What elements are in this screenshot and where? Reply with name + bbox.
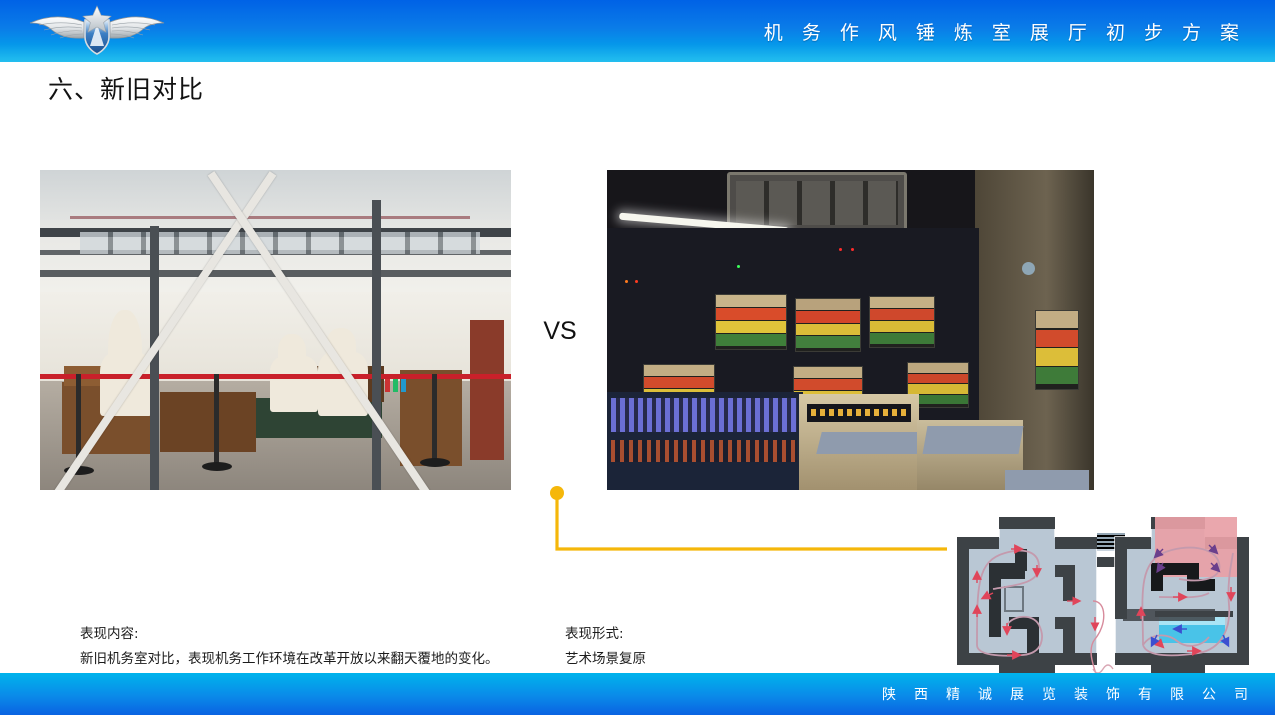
footer-char-0: 陕	[873, 684, 905, 704]
header-title-char-12: 案	[1211, 18, 1249, 45]
page-title: 六、新旧对比	[48, 70, 204, 106]
footer-char-8: 有	[1129, 684, 1161, 704]
photo-right-desk-surface	[923, 426, 1024, 454]
photo-left-figure-body	[270, 356, 318, 412]
photo-left-banner	[470, 320, 504, 460]
caption-left-body: 新旧机务室对比，表现机务工作环境在改革开放以来翻天覆地的变化。	[80, 647, 499, 672]
header-title-char-5: 炼	[945, 18, 983, 45]
photo-right-led	[635, 280, 638, 283]
caption-right: 表现形式: 艺术场景复原	[565, 622, 646, 672]
header-title-char-2: 作	[831, 18, 869, 45]
exhibition-floorplan	[947, 505, 1259, 695]
photo-left-wardrobe	[400, 370, 462, 466]
caption-right-body: 艺术场景复原	[565, 647, 646, 672]
caption-left: 表现内容: 新旧机务室对比，表现机务工作环境在改革开放以来翻天覆地的变化。	[80, 622, 499, 672]
header-title-char-11: 方	[1173, 18, 1211, 45]
footer-char-5: 览	[1033, 684, 1065, 704]
footer-char-1: 西	[905, 684, 937, 704]
footer-char-10: 公	[1193, 684, 1225, 704]
photo-right-desk-panel	[807, 404, 911, 422]
photo-left-desk	[160, 392, 256, 452]
slide-header: 机 务 作 风 锤 炼 室 展 厅 初 步 方 案	[0, 0, 1275, 62]
footer-char-4: 展	[1001, 684, 1033, 704]
header-title-char-0: 机	[755, 18, 793, 45]
photo-right-led	[839, 248, 842, 251]
caption-left-heading: 表现内容:	[80, 622, 499, 647]
photo-right-led	[625, 280, 628, 283]
old-maintenance-room-photo	[40, 170, 511, 490]
new-control-room-photo	[607, 170, 1094, 490]
footer-char-6: 装	[1065, 684, 1097, 704]
photo-right-ceiling-sensor	[1022, 262, 1035, 275]
photo-right-led	[737, 265, 740, 268]
vs-comparison-label: VS	[540, 317, 580, 346]
photo-left-red-stripe	[70, 216, 470, 219]
header-title: 机 务 作 风 锤 炼 室 展 厅 初 步 方 案	[755, 0, 1249, 62]
photo-left-stanchion	[432, 374, 437, 462]
photo-right-side-monitor	[1035, 310, 1079, 390]
photo-right-monitor	[869, 296, 935, 348]
slide-root: 机 务 作 风 锤 炼 室 展 厅 初 步 方 案 六、新旧对比	[0, 0, 1275, 715]
header-title-char-10: 步	[1135, 18, 1173, 45]
photo-left-window-band	[80, 232, 480, 254]
footer-char-3: 诚	[969, 684, 1001, 704]
header-title-char-4: 锤	[907, 18, 945, 45]
photo-left-stanchion-base	[420, 458, 450, 467]
header-title-char-1: 务	[793, 18, 831, 45]
photo-right-knob-bank	[611, 440, 797, 462]
footer-char-2: 精	[937, 684, 969, 704]
header-title-char-6: 室	[983, 18, 1021, 45]
pilot-wings-emblem-icon	[22, 4, 172, 58]
photo-right-monitor	[715, 294, 787, 350]
slide-footer: 陕 西 精 诚 展 览 装 饰 有 限 公 司	[0, 673, 1275, 715]
photo-right-monitor	[795, 298, 861, 352]
caption-right-heading: 表现形式:	[565, 622, 646, 647]
footer-char-11: 司	[1225, 684, 1257, 704]
footer-char-7: 饰	[1097, 684, 1129, 704]
photo-right-desk-surface	[1005, 470, 1089, 490]
photo-left-stanchion	[214, 374, 219, 466]
photo-right-desk-surface	[816, 432, 929, 454]
header-title-char-8: 厅	[1059, 18, 1097, 45]
footer-char-9: 限	[1161, 684, 1193, 704]
header-title-char-9: 初	[1097, 18, 1135, 45]
photo-right-led	[851, 248, 854, 251]
connector-start-dot	[550, 486, 564, 500]
photo-left-post	[372, 200, 381, 490]
photo-left-stanchion-base	[202, 462, 232, 471]
footer-company-name: 陕 西 精 诚 展 览 装 饰 有 限 公 司	[873, 673, 1257, 715]
photo-right-fader-bank	[611, 398, 797, 432]
header-title-char-7: 展	[1021, 18, 1059, 45]
header-title-char-3: 风	[869, 18, 907, 45]
photo-left-red-rope	[40, 374, 511, 379]
photo-left-bottle	[393, 378, 398, 392]
